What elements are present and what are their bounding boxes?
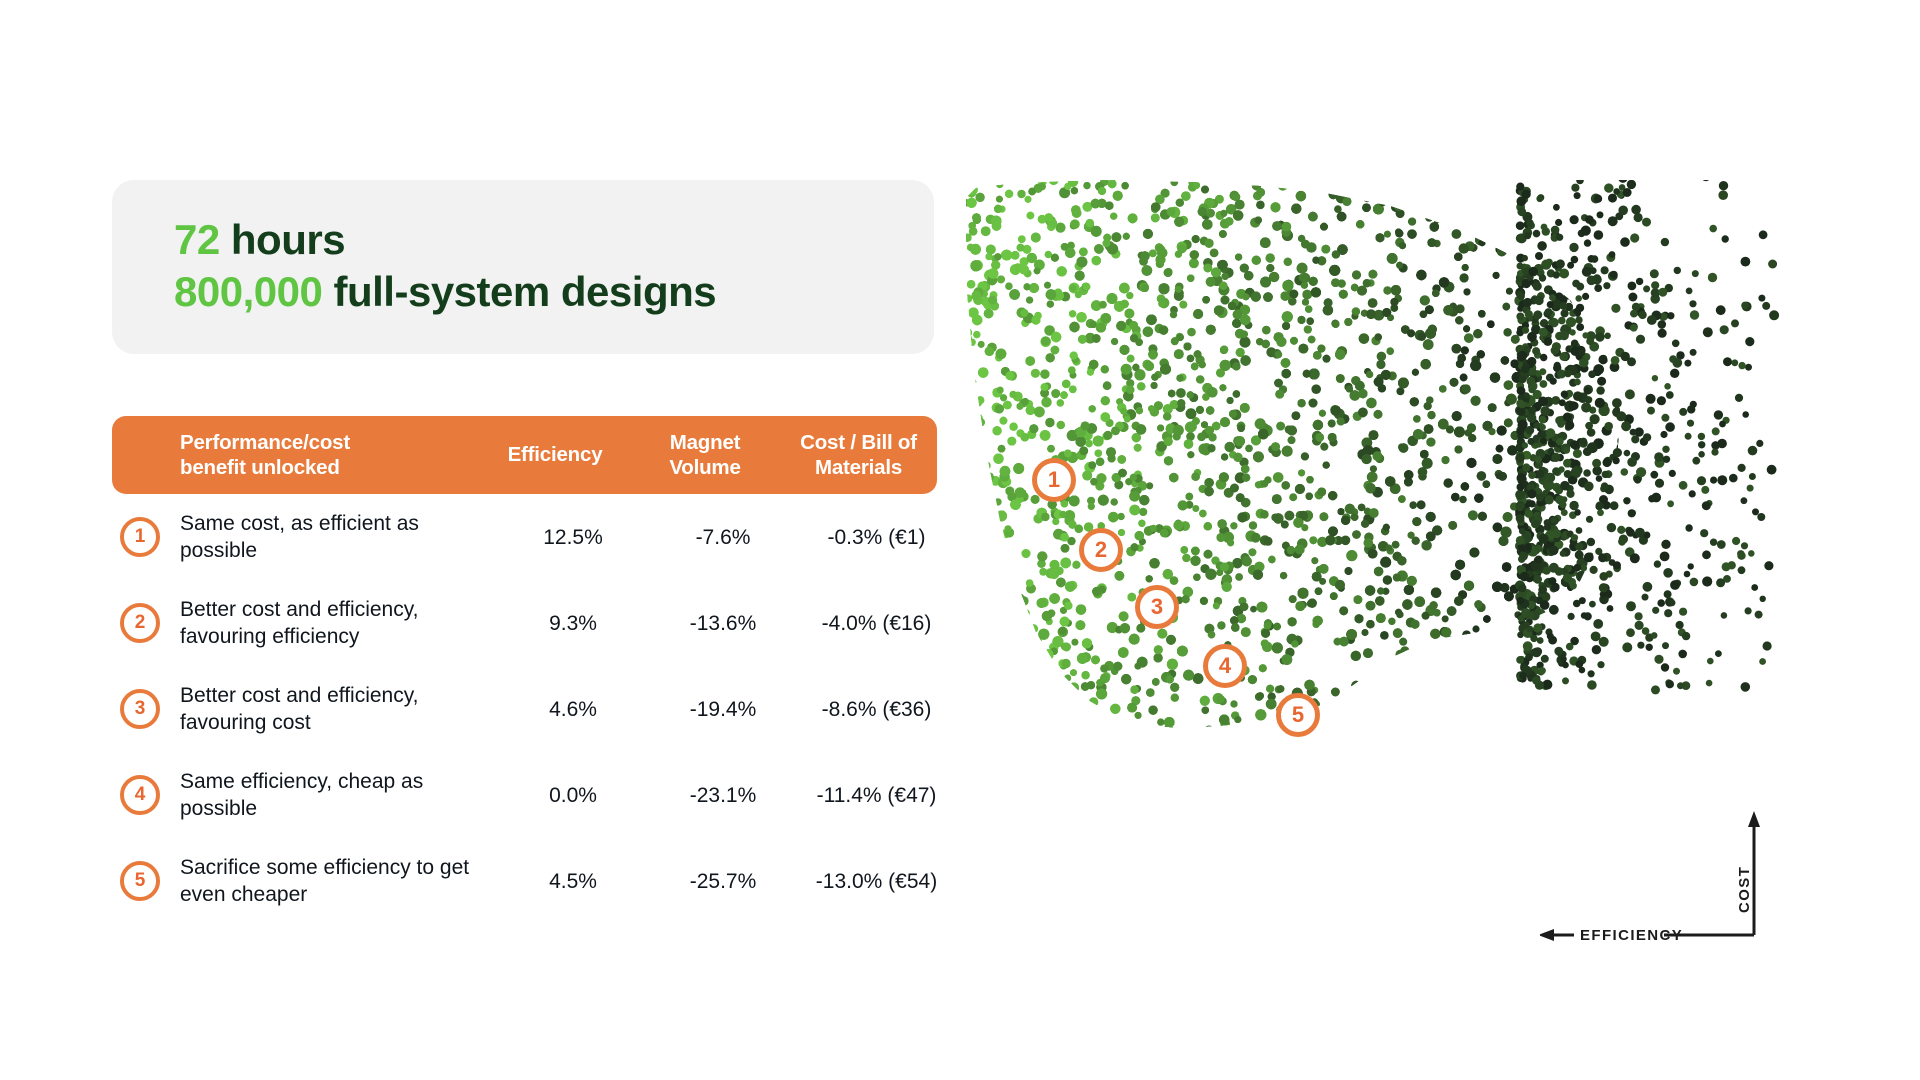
- plot-marker-5[interactable]: 5: [1276, 693, 1320, 737]
- axis-label-efficiency: EFFICIENCY: [1580, 927, 1683, 944]
- row-magnet-volume: -25.7%: [648, 868, 798, 895]
- row-description: Sacrifice some efficiency to get even ch…: [180, 854, 498, 909]
- table-header-cost-bom: Cost / Bill of Materials: [780, 430, 937, 481]
- row-number-badge: 1: [120, 517, 160, 557]
- table-header-cost-line1: Cost / Bill of: [780, 430, 937, 455]
- row-efficiency: 0.0%: [498, 782, 648, 809]
- table-header-magnet-line1: Magnet: [630, 430, 780, 455]
- plot-marker-3[interactable]: 3: [1135, 585, 1179, 629]
- table-body: 1Same cost, as efficient as possible12.5…: [112, 494, 937, 924]
- table-header-efficiency: Efficiency: [480, 442, 630, 467]
- table-header-description-line2: benefit unlocked: [180, 455, 480, 480]
- benefit-table: Performance/cost benefit unlocked Effici…: [112, 416, 937, 924]
- row-cost-bom: -11.4% (€47): [798, 782, 955, 809]
- table-header-description: Performance/cost benefit unlocked: [180, 430, 480, 481]
- row-number-badge: 4: [120, 775, 160, 815]
- headline-card: 72 hours 800,000 full-system designs: [112, 180, 934, 354]
- table-header-magnet-line2: Volume: [630, 455, 780, 480]
- plot-marker-1[interactable]: 1: [1032, 458, 1076, 502]
- row-number-badge: 5: [120, 861, 160, 901]
- table-row: 4Same efficiency, cheap as possible0.0%-…: [112, 752, 937, 838]
- table-row: 3Better cost and efficiency, favouring c…: [112, 666, 937, 752]
- row-magnet-volume: -7.6%: [648, 524, 798, 551]
- row-description: Better cost and efficiency, favouring co…: [180, 682, 498, 737]
- row-badge-cell: 3: [112, 689, 180, 729]
- row-description: Better cost and efficiency, favouring ef…: [180, 596, 498, 651]
- scatter-plot-panel: COST EFFICIENCY 12345: [960, 180, 1790, 970]
- table-header-row: Performance/cost benefit unlocked Effici…: [112, 416, 937, 494]
- row-cost-bom: -13.0% (€54): [798, 868, 955, 895]
- row-efficiency: 9.3%: [498, 610, 648, 637]
- row-efficiency: 4.6%: [498, 696, 648, 723]
- row-number-badge: 2: [120, 603, 160, 643]
- row-cost-bom: -8.6% (€36): [798, 696, 955, 723]
- table-header-cost-line2: Materials: [780, 455, 937, 480]
- headline-line-2: 800,000 full-system designs: [174, 266, 934, 318]
- axis-label-cost: COST: [1736, 866, 1753, 913]
- plot-axes: COST EFFICIENCY: [1540, 785, 1790, 970]
- row-badge-cell: 4: [112, 775, 180, 815]
- table-header-description-line1: Performance/cost: [180, 430, 480, 455]
- headline-line-1: 72 hours: [174, 214, 934, 266]
- row-magnet-volume: -23.1%: [648, 782, 798, 809]
- headline-designs-number: 800,000: [174, 268, 322, 315]
- table-row: 5Sacrifice some efficiency to get even c…: [112, 838, 937, 924]
- row-efficiency: 12.5%: [498, 524, 648, 551]
- row-cost-bom: -4.0% (€16): [798, 610, 955, 637]
- row-number-badge: 3: [120, 689, 160, 729]
- table-header-magnet-volume: Magnet Volume: [630, 430, 780, 481]
- headline-designs-label: full-system designs: [322, 268, 716, 315]
- headline-hours-label: hours: [220, 216, 345, 263]
- row-badge-cell: 2: [112, 603, 180, 643]
- row-efficiency: 4.5%: [498, 868, 648, 895]
- table-header-efficiency-line1: Efficiency: [480, 442, 630, 467]
- row-cost-bom: -0.3% (€1): [798, 524, 955, 551]
- row-badge-cell: 1: [112, 517, 180, 557]
- headline-hours-number: 72: [174, 216, 220, 263]
- row-magnet-volume: -19.4%: [648, 696, 798, 723]
- table-row: 1Same cost, as efficient as possible12.5…: [112, 494, 937, 580]
- plot-marker-4[interactable]: 4: [1203, 644, 1247, 688]
- row-magnet-volume: -13.6%: [648, 610, 798, 637]
- table-row: 2Better cost and efficiency, favouring e…: [112, 580, 937, 666]
- plot-marker-2[interactable]: 2: [1079, 528, 1123, 572]
- row-badge-cell: 5: [112, 861, 180, 901]
- row-description: Same efficiency, cheap as possible: [180, 768, 498, 823]
- row-description: Same cost, as efficient as possible: [180, 510, 498, 565]
- left-panel: 72 hours 800,000 full-system designs Per…: [112, 180, 942, 924]
